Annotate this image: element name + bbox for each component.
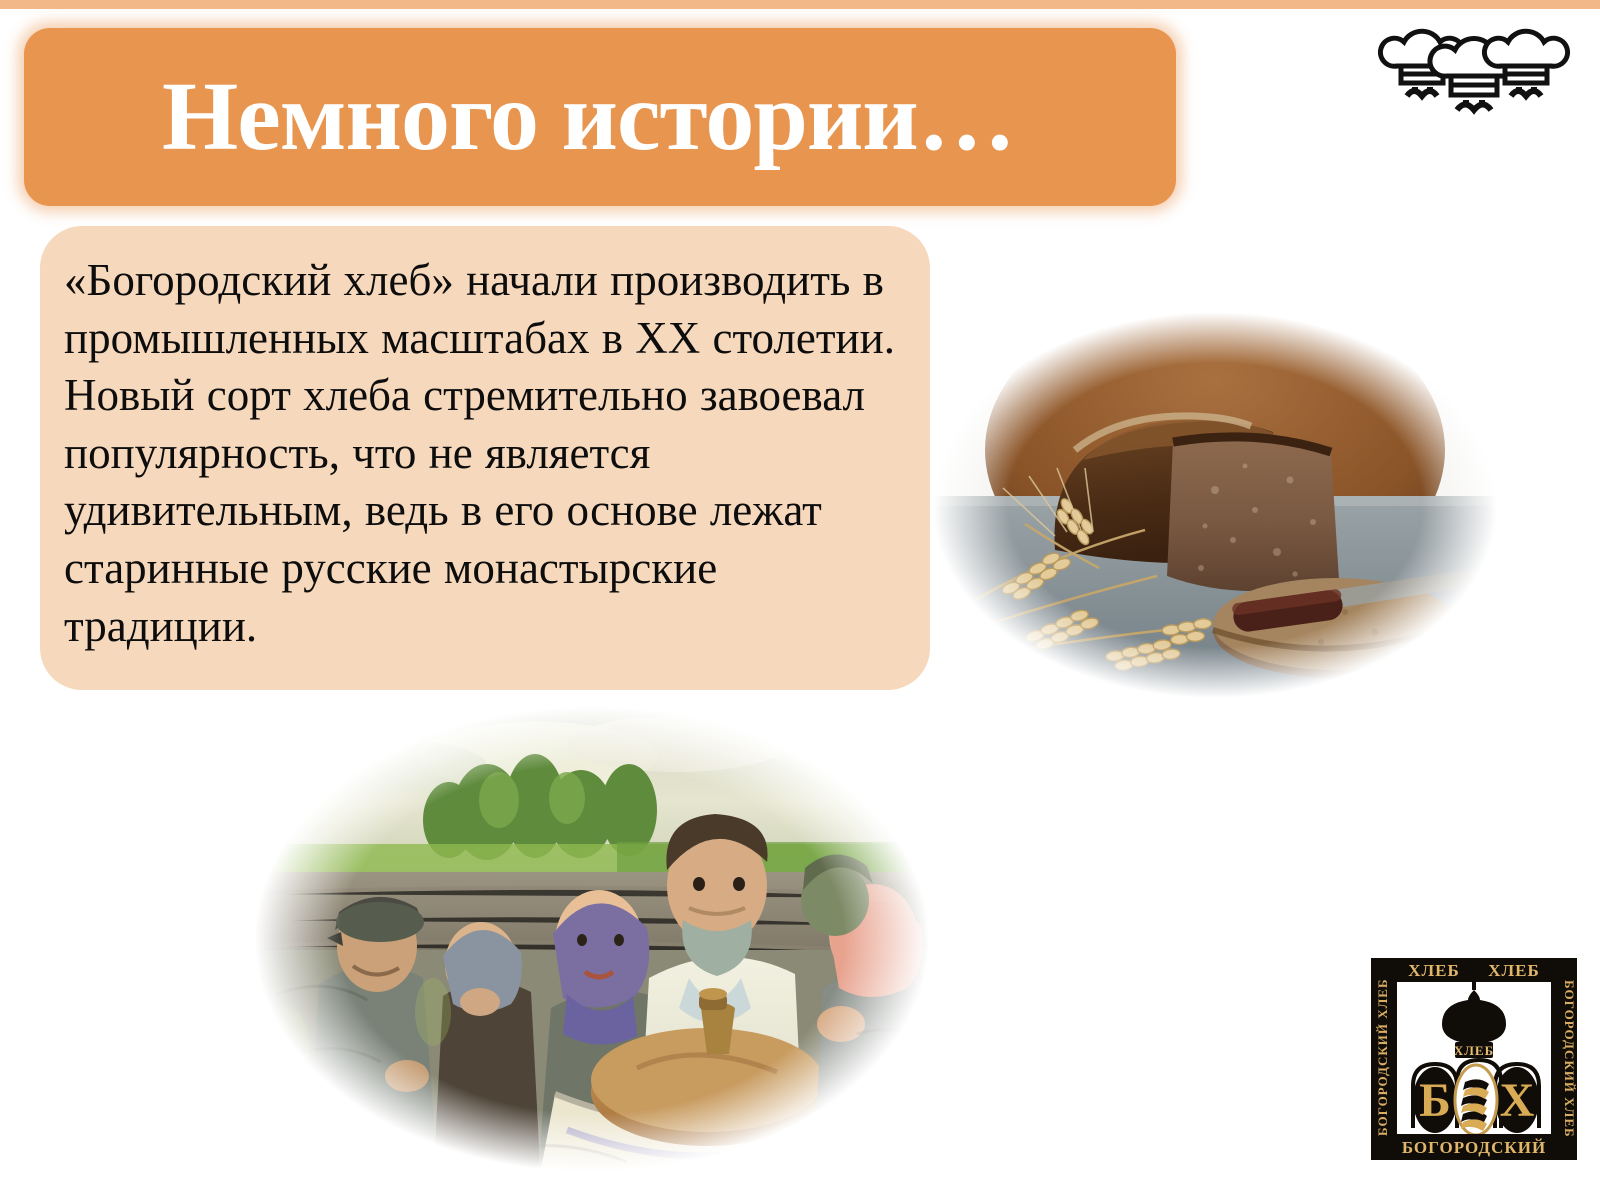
top-accent-strip [0, 0, 1600, 9]
logo-monogram-right: Х [1500, 1074, 1535, 1127]
brand-logo: ХЛЕБ ХЛЕБ БОГОРОДСКИЙ ХЛЕБ БОГОРОДСКИЙ Х… [1367, 950, 1581, 1164]
header-banner: Немного истории… [24, 28, 1176, 206]
body-paragraph: «Богородский хлеб» начали производить в … [64, 252, 900, 655]
logo-top-left-word: ХЛЕБ [1408, 961, 1460, 980]
body-text-card: «Богородский хлеб» начали производить в … [40, 226, 930, 690]
logo-bottom-word: БОГОРОДСКИЙ [1402, 1138, 1546, 1157]
page-title: Немного истории… [24, 28, 1176, 206]
logo-left-side-word: БОГОРОДСКИЙ ХЛЕБ [1375, 978, 1390, 1136]
logo-top-right-word: ХЛЕБ [1488, 961, 1540, 980]
painting-photo [237, 694, 947, 1184]
logo-right-side-word: БОГОРОДСКИЙ ХЛЕБ [1562, 980, 1577, 1138]
chef-hats-icon [1371, 24, 1571, 134]
logo-monogram-left: Б [1419, 1074, 1451, 1127]
logo-dome-word: ХЛЕБ [1454, 1043, 1494, 1058]
bread-photo [915, 300, 1515, 710]
